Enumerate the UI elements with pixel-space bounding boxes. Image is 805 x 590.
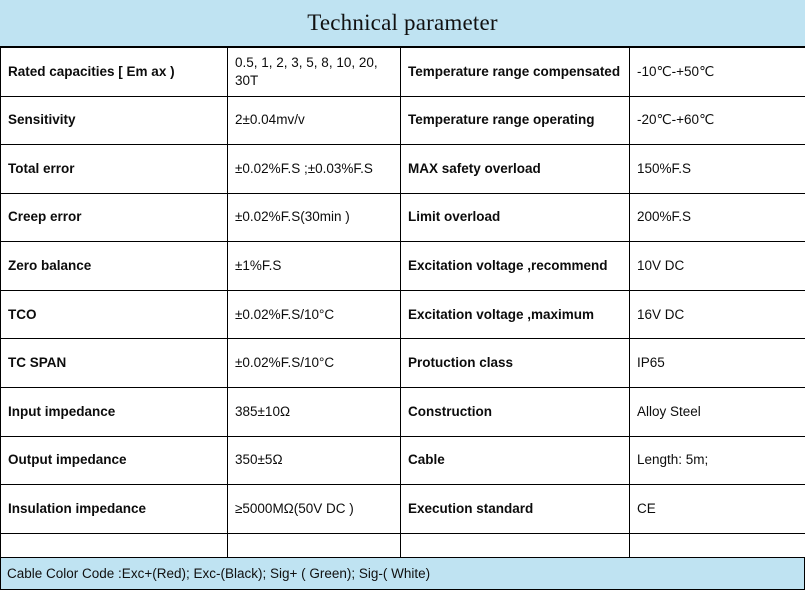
table-cell-label: Insulation impedance <box>1 485 228 534</box>
table-cell-label: Cable <box>401 436 630 485</box>
table-cell-label: Output impedance <box>1 436 228 485</box>
specs-table: Rated capacities [ Em ax )0.5, 1, 2, 3, … <box>0 47 805 558</box>
table-cell-label: Rated capacities [ Em ax ) <box>1 48 228 97</box>
table-cell-value: 200%F.S <box>630 193 805 242</box>
table-row: Zero balance±1%F.SExcitation voltage ,re… <box>1 242 805 291</box>
table-cell-label <box>1 533 228 557</box>
table-cell-label: Excitation voltage ,maximum <box>401 290 630 339</box>
table-cell-label <box>401 533 630 557</box>
table-row-empty <box>1 533 805 557</box>
table-cell-label: TC SPAN <box>1 339 228 388</box>
table-cell-label: Limit overload <box>401 193 630 242</box>
table-cell-label: Construction <box>401 387 630 436</box>
table-cell-value: 2±0.04mv/v <box>228 96 401 145</box>
table-cell-value: -10℃-+50℃ <box>630 48 805 97</box>
table-cell-label: Sensitivity <box>1 96 228 145</box>
table-row: Creep error±0.02%F.S(30min )Limit overlo… <box>1 193 805 242</box>
table-row: Total error±0.02%F.S ;±0.03%F.SMAX safet… <box>1 145 805 194</box>
table-cell-label: Input impedance <box>1 387 228 436</box>
title-banner: Technical parameter <box>0 0 805 47</box>
table-cell-value: ±1%F.S <box>228 242 401 291</box>
table-row: Insulation impedance≥5000MΩ(50V DC )Exec… <box>1 485 805 534</box>
table-cell-label: Execution standard <box>401 485 630 534</box>
table-cell-value: 150%F.S <box>630 145 805 194</box>
table-cell-label: Temperature range operating <box>401 96 630 145</box>
table-cell-value: 350±5Ω <box>228 436 401 485</box>
table-cell-value: ±0.02%F.S(30min ) <box>228 193 401 242</box>
cable-color-code-footer: Cable Color Code :Exc+(Red); Exc-(Black)… <box>0 558 805 590</box>
table-cell-value: ±0.02%F.S ;±0.03%F.S <box>228 145 401 194</box>
table-row: Rated capacities [ Em ax )0.5, 1, 2, 3, … <box>1 48 805 97</box>
table-row: Output impedance350±5ΩCableLength: 5m; <box>1 436 805 485</box>
table-cell-value: IP65 <box>630 339 805 388</box>
technical-parameter-sheet: Technical parameter Rated capacities [ E… <box>0 0 805 590</box>
table-row: TCO±0.02%F.S/10°CExcitation voltage ,max… <box>1 290 805 339</box>
table-cell-value: ±0.02%F.S/10°C <box>228 339 401 388</box>
table-cell-value: 0.5, 1, 2, 3, 5, 8, 10, 20, 30T <box>228 48 401 97</box>
table-cell-label: Protuction class <box>401 339 630 388</box>
table-cell-value <box>630 533 805 557</box>
cable-color-code-text: Cable Color Code :Exc+(Red); Exc-(Black)… <box>7 566 430 581</box>
table-cell-label: MAX safety overload <box>401 145 630 194</box>
table-row: TC SPAN±0.02%F.S/10°CProtuction classIP6… <box>1 339 805 388</box>
table-cell-value: 385±10Ω <box>228 387 401 436</box>
table-cell-value: Length: 5m; <box>630 436 805 485</box>
table-cell-value: ±0.02%F.S/10°C <box>228 290 401 339</box>
table-cell-value: 10V DC <box>630 242 805 291</box>
table-cell-value: 16V DC <box>630 290 805 339</box>
table-cell-label: TCO <box>1 290 228 339</box>
specs-table-body: Rated capacities [ Em ax )0.5, 1, 2, 3, … <box>1 48 805 558</box>
table-cell-label: Temperature range compensated <box>401 48 630 97</box>
table-cell-value: ≥5000MΩ(50V DC ) <box>228 485 401 534</box>
table-cell-value: -20℃-+60℃ <box>630 96 805 145</box>
table-cell-value: Alloy Steel <box>630 387 805 436</box>
table-cell-label: Zero balance <box>1 242 228 291</box>
page-title: Technical parameter <box>307 10 498 36</box>
table-cell-label: Creep error <box>1 193 228 242</box>
table-cell-label: Excitation voltage ,recommend <box>401 242 630 291</box>
table-cell-label: Total error <box>1 145 228 194</box>
table-row: Sensitivity2±0.04mv/vTemperature range o… <box>1 96 805 145</box>
table-row: Input impedance385±10ΩConstructionAlloy … <box>1 387 805 436</box>
table-cell-value: CE <box>630 485 805 534</box>
table-cell-value <box>228 533 401 557</box>
